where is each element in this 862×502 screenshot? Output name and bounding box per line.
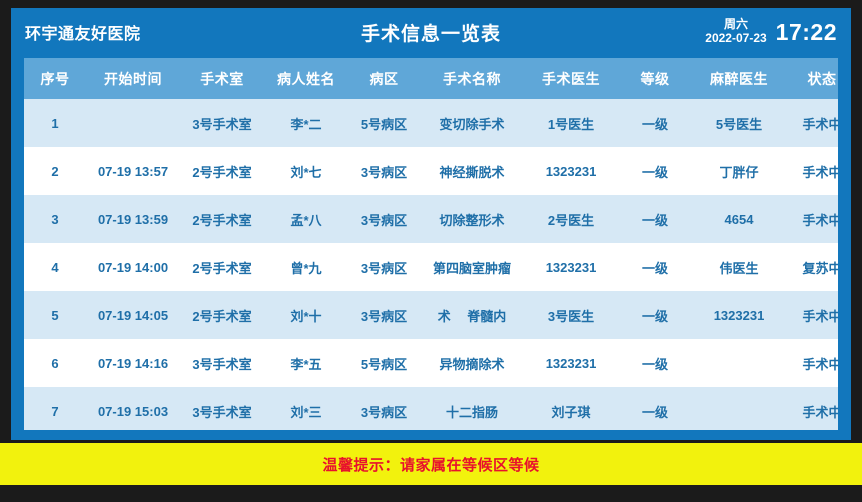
column-header: 病人姓名	[264, 58, 348, 99]
cell-surgeon: 1323231	[524, 243, 618, 291]
cell-start-time: 07-19 14:00	[86, 243, 180, 291]
notice-bar: 温馨提示：请家属在等候区等候	[0, 443, 862, 485]
cell-operating-room: 3号手术室	[180, 387, 264, 430]
table-row: 13号手术室李*二5号病区变切除手术1号医生一级5号医生手术中	[24, 99, 838, 147]
weekday-label: 周六	[724, 18, 748, 32]
cell-start-time: 07-19 14:05	[86, 291, 180, 339]
cell-ward: 3号病区	[348, 243, 420, 291]
column-header: 序号	[24, 58, 86, 99]
cell-ward: 5号病区	[348, 339, 420, 387]
table-row: 607-19 14:163号手术室李*五5号病区异物摘除术1323231一级手术…	[24, 339, 838, 387]
cell-operating-room: 2号手术室	[180, 243, 264, 291]
status-badge: 手术中	[786, 339, 838, 387]
cell-ward: 5号病区	[348, 99, 420, 147]
cell-start-time: 07-19 14:16	[86, 339, 180, 387]
cell-surgery-name: 术 脊髓内	[420, 291, 524, 339]
cell-anesthetist: 丁胖仔	[692, 147, 786, 195]
cell-operating-room: 3号手术室	[180, 339, 264, 387]
column-header: 麻醉医生	[692, 58, 786, 99]
table-row: 407-19 14:002号手术室曾*九3号病区第四脑室肿瘤1323231一级伟…	[24, 243, 838, 291]
cell-ward: 3号病区	[348, 195, 420, 243]
cell-operating-room: 3号手术室	[180, 99, 264, 147]
cell-surgeon: 2号医生	[524, 195, 618, 243]
cell-patient-name: 李*五	[264, 339, 348, 387]
column-header: 病区	[348, 58, 420, 99]
status-badge: 复苏中	[786, 243, 838, 291]
status-badge: 手术中	[786, 99, 838, 147]
header-bar: 环宇通友好医院 手术信息一览表 周六 2022-07-23 17:22	[11, 8, 851, 56]
cell-ward: 3号病区	[348, 387, 420, 430]
cell-anesthetist: 1323231	[692, 291, 786, 339]
cell-seq: 4	[24, 243, 86, 291]
cell-surgery-name: 神经撕脱术	[420, 147, 524, 195]
surgery-table: 序号开始时间手术室病人姓名病区手术名称手术医生等级麻醉医生状态 13号手术室李*…	[24, 58, 838, 430]
column-header: 手术名称	[420, 58, 524, 99]
date-block: 周六 2022-07-23	[705, 18, 766, 46]
table-body: 13号手术室李*二5号病区变切除手术1号医生一级5号医生手术中207-19 13…	[24, 99, 838, 430]
cell-patient-name: 刘*七	[264, 147, 348, 195]
status-badge: 手术中	[786, 195, 838, 243]
cell-patient-name: 孟*八	[264, 195, 348, 243]
cell-start-time: 07-19 13:59	[86, 195, 180, 243]
cell-surgeon: 3号医生	[524, 291, 618, 339]
cell-surgery-name: 第四脑室肿瘤	[420, 243, 524, 291]
cell-seq: 2	[24, 147, 86, 195]
cell-anesthetist: 4654	[692, 195, 786, 243]
cell-surgery-name: 切除整形术	[420, 195, 524, 243]
table-row: 707-19 15:033号手术室刘*三3号病区十二指肠刘子琪一级手术中	[24, 387, 838, 430]
status-badge: 手术中	[786, 387, 838, 430]
table-row: 307-19 13:592号手术室孟*八3号病区切除整形术2号医生一级4654手…	[24, 195, 838, 243]
cell-ward: 3号病区	[348, 291, 420, 339]
cell-operating-room: 2号手术室	[180, 147, 264, 195]
cell-surgeon: 1323231	[524, 339, 618, 387]
cell-patient-name: 李*二	[264, 99, 348, 147]
cell-seq: 1	[24, 99, 86, 147]
cell-surgeon: 1号医生	[524, 99, 618, 147]
table-header: 序号开始时间手术室病人姓名病区手术名称手术医生等级麻醉医生状态	[24, 58, 838, 99]
status-badge: 手术中	[786, 147, 838, 195]
cell-operating-room: 2号手术室	[180, 291, 264, 339]
cell-seq: 6	[24, 339, 86, 387]
cell-surgeon: 1323231	[524, 147, 618, 195]
cell-anesthetist: 5号医生	[692, 99, 786, 147]
display-screen: 环宇通友好医院 手术信息一览表 周六 2022-07-23 17:22 序号开始…	[0, 0, 862, 502]
cell-patient-name: 曾*九	[264, 243, 348, 291]
cell-anesthetist	[692, 339, 786, 387]
table-header-row: 序号开始时间手术室病人姓名病区手术名称手术医生等级麻醉医生状态	[24, 58, 838, 99]
cell-seq: 5	[24, 291, 86, 339]
cell-level: 一级	[618, 291, 692, 339]
cell-ward: 3号病区	[348, 147, 420, 195]
cell-start-time: 07-19 13:57	[86, 147, 180, 195]
cell-level: 一级	[618, 339, 692, 387]
date-label: 2022-07-23	[705, 32, 766, 46]
cell-start-time	[86, 99, 180, 147]
cell-surgeon: 刘子琪	[524, 387, 618, 430]
cell-level: 一级	[618, 243, 692, 291]
cell-anesthetist: 伟医生	[692, 243, 786, 291]
column-header: 开始时间	[86, 58, 180, 99]
cell-seq: 3	[24, 195, 86, 243]
column-header: 状态	[786, 58, 838, 99]
cell-level: 一级	[618, 387, 692, 430]
hospital-name: 环宇通友好医院	[25, 20, 141, 44]
cell-surgery-name: 变切除手术	[420, 99, 524, 147]
cell-seq: 7	[24, 387, 86, 430]
column-header: 手术室	[180, 58, 264, 99]
column-header: 手术医生	[524, 58, 618, 99]
clock-label: 17:22	[776, 19, 837, 46]
status-badge: 手术中	[786, 291, 838, 339]
cell-level: 一级	[618, 195, 692, 243]
table-row: 207-19 13:572号手术室刘*七3号病区神经撕脱术1323231一级丁胖…	[24, 147, 838, 195]
surgery-table-container: 序号开始时间手术室病人姓名病区手术名称手术医生等级麻醉医生状态 13号手术室李*…	[24, 58, 838, 430]
table-row: 507-19 14:052号手术室刘*十3号病区术 脊髓内3号医生一级13232…	[24, 291, 838, 339]
cell-anesthetist	[692, 387, 786, 430]
cell-start-time: 07-19 15:03	[86, 387, 180, 430]
column-header: 等级	[618, 58, 692, 99]
cell-level: 一级	[618, 99, 692, 147]
cell-surgery-name: 异物摘除术	[420, 339, 524, 387]
cell-surgery-name: 十二指肠	[420, 387, 524, 430]
notice-text: 温馨提示：请家属在等候区等候	[322, 454, 539, 475]
cell-level: 一级	[618, 147, 692, 195]
cell-patient-name: 刘*三	[264, 387, 348, 430]
surgery-board-panel: 环宇通友好医院 手术信息一览表 周六 2022-07-23 17:22 序号开始…	[11, 8, 851, 440]
cell-patient-name: 刘*十	[264, 291, 348, 339]
cell-operating-room: 2号手术室	[180, 195, 264, 243]
datetime-area: 周六 2022-07-23 17:22	[705, 18, 837, 46]
